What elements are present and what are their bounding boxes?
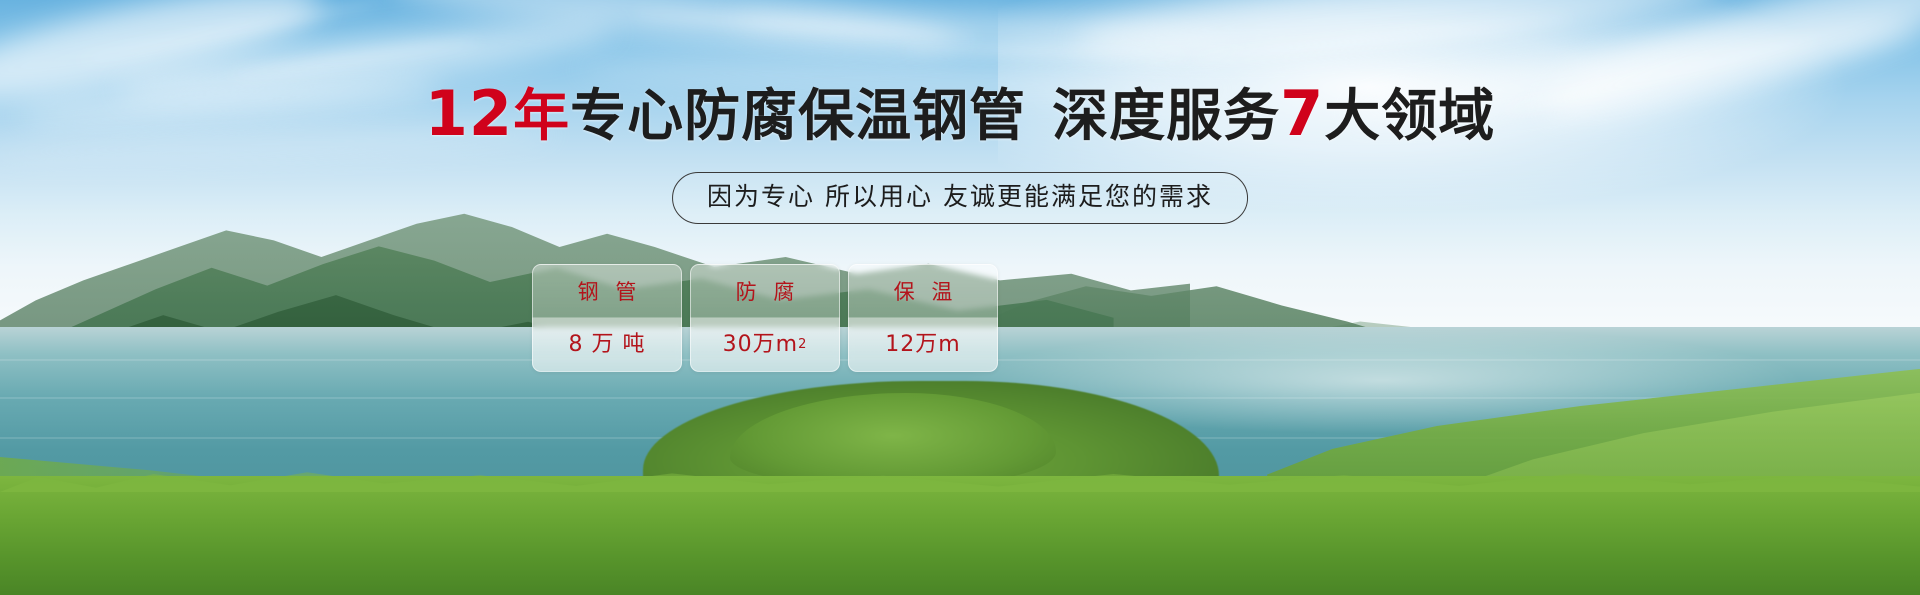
- fields-number: 7: [1280, 77, 1324, 150]
- years-unit: 年: [513, 84, 570, 149]
- tagline-pill: 因为专心 所以用心 友诚更能满足您的需求: [672, 172, 1248, 224]
- stat-card-group: 钢 管 8 万 吨 防 腐 30万m2 保 温 12万m: [532, 264, 998, 372]
- stat-value-text: 8 万 吨: [569, 332, 646, 358]
- headline-main-text: 专心防腐保温钢管: [570, 84, 1026, 149]
- headline-service-text: 深度服务: [1052, 84, 1280, 149]
- hero-banner: 12年专心防腐保温钢管深度服务7大领域 因为专心 所以用心 友诚更能满足您的需求…: [0, 0, 1920, 595]
- stat-value-text: 30万m: [723, 332, 798, 358]
- stat-card-steel-pipe[interactable]: 钢 管 8 万 吨: [532, 264, 682, 372]
- stat-value-superscript: 2: [798, 332, 807, 358]
- stat-card-value: 8 万 吨: [569, 318, 646, 371]
- banner-headline: 12年专心防腐保温钢管深度服务7大领域: [0, 82, 1920, 149]
- years-number: 12: [425, 77, 513, 150]
- stat-card-title: 钢 管: [573, 265, 642, 318]
- stat-value-text: 12万m: [885, 332, 960, 358]
- foreground-grass: [0, 476, 1920, 595]
- headline-fields-text: 大领域: [1324, 84, 1495, 149]
- stat-card-value: 30万m2: [723, 318, 808, 371]
- stat-card-insulation[interactable]: 保 温 12万m: [848, 264, 998, 372]
- stat-card-anticorrosion[interactable]: 防 腐 30万m2: [690, 264, 840, 372]
- stat-card-title: 防 腐: [731, 265, 800, 318]
- stat-card-value: 12万m: [885, 318, 960, 371]
- stat-card-title: 保 温: [889, 265, 958, 318]
